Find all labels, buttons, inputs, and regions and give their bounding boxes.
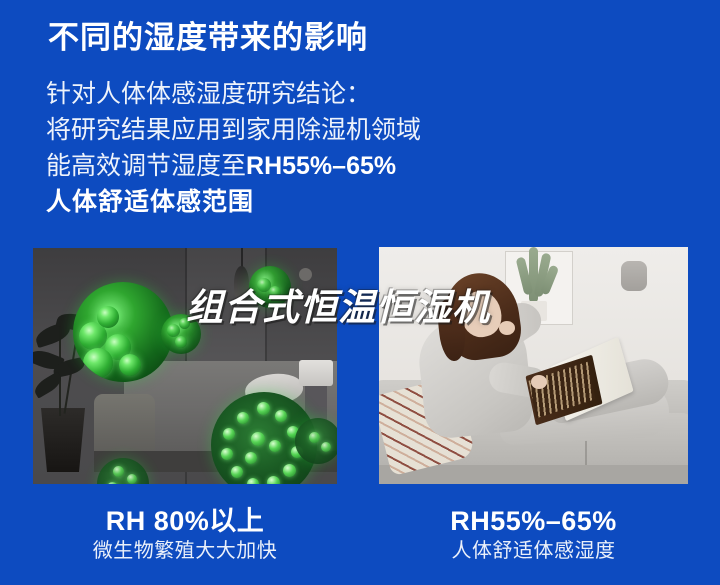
microbe-sphere-main	[73, 282, 173, 382]
virus-spike	[275, 410, 287, 422]
virus-spike	[231, 466, 243, 478]
virus-spike	[247, 478, 259, 484]
microbe-cell	[269, 286, 281, 298]
microbe-cell	[83, 348, 113, 378]
caption-right-title: RH55%–65%	[379, 505, 688, 537]
microbe-cell	[179, 318, 190, 329]
microbe-sphere-topright	[249, 266, 291, 308]
poster-canvas: 不同的湿度带来的影响 针对人体体感湿度研究结论： 将研究结果应用到家用除湿机领域…	[0, 0, 720, 585]
right-person-hand-upper	[499, 321, 515, 335]
virus-spike	[127, 474, 137, 484]
microbe-cell	[119, 354, 141, 376]
virus-spike	[245, 452, 257, 464]
virus-spike	[283, 464, 296, 477]
left-side-table-leg	[305, 380, 327, 420]
photo-panel-right	[379, 247, 688, 484]
body-line-4: 人体舒适体感范围	[46, 184, 421, 220]
body-line-2: 将研究结果应用到家用除湿机领域	[46, 112, 421, 148]
virus-spike	[223, 428, 235, 440]
virus-spike	[113, 466, 124, 477]
caption-left-title: RH 80%以上	[33, 505, 337, 537]
body-copy: 针对人体体感湿度研究结论： 将研究结果应用到家用除湿机领域 能高效调节湿度至RH…	[46, 76, 421, 220]
virus-spike	[237, 412, 249, 424]
virus-spike	[221, 448, 233, 460]
virus-spike	[309, 432, 320, 443]
left-pendant-lamp	[234, 266, 249, 302]
microbe-cell	[97, 306, 119, 328]
virus-spike	[267, 476, 280, 484]
microbe-cell	[167, 324, 180, 337]
body-line-3: 能高效调节湿度至RH55%–65%	[46, 148, 421, 184]
body-line-3-highlight: RH55%–65%	[246, 152, 396, 180]
page-title: 不同的湿度带来的影响	[48, 16, 368, 60]
virus-spike	[107, 482, 118, 484]
right-person-hand-book	[531, 375, 547, 389]
microbe-cell	[175, 336, 187, 348]
virus-spike	[257, 402, 270, 415]
virus-sphere-right	[295, 418, 337, 464]
virus-spike	[269, 440, 281, 452]
caption-right-subtitle: 人体舒适体感湿度	[379, 537, 688, 565]
virus-spike	[321, 442, 331, 452]
caption-right: RH55%–65% 人体舒适体感湿度	[379, 505, 688, 565]
left-side-table	[299, 360, 333, 386]
microbe-sphere-small	[161, 314, 201, 354]
left-wall-knob-icon	[299, 268, 312, 281]
body-line-1: 针对人体体感湿度研究结论：	[46, 76, 421, 112]
virus-spike	[251, 432, 265, 446]
right-wall-speaker	[621, 261, 647, 291]
caption-left-subtitle: 微生物繁殖大大加快	[33, 537, 337, 565]
left-wall-panel	[187, 248, 265, 380]
body-line-3-normal: 能高效调节湿度至	[46, 152, 246, 180]
photo-panel-left	[33, 248, 337, 484]
caption-left: RH 80%以上 微生物繁殖大大加快	[33, 505, 337, 565]
